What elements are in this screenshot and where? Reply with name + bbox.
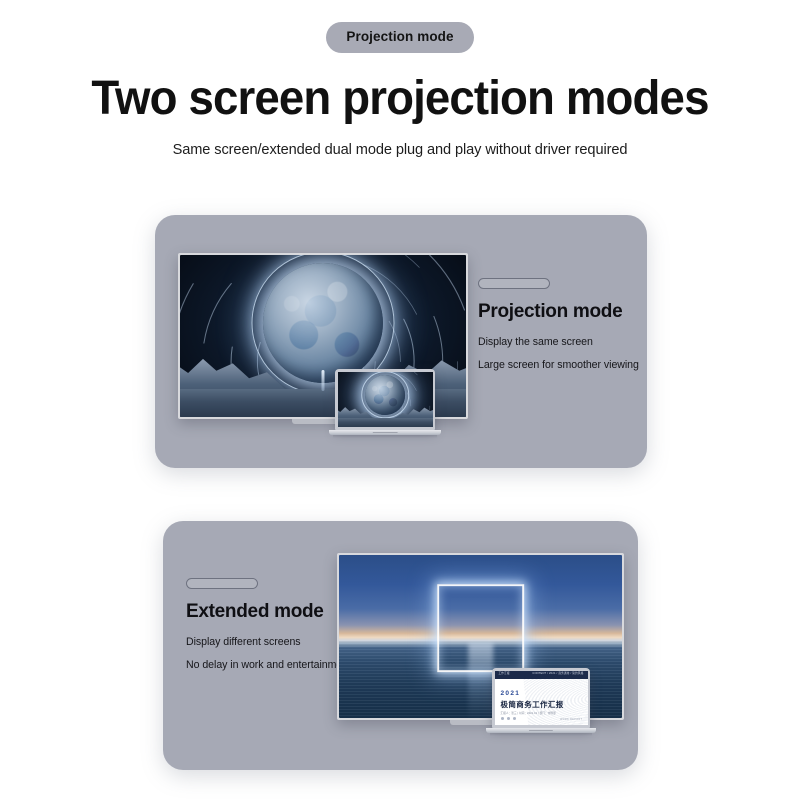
artwork-moon-star-trails-mirrored: [338, 372, 433, 428]
text-block-extended-mode: Extended mode Display different screens …: [186, 578, 351, 682]
laptop-lid: 工作汇报 CONTENT / 2021 / 商务通用 / 简约风格 2021 极…: [492, 668, 590, 728]
slide-footer: WORK REPORT: [560, 719, 582, 721]
mode-line-1: Display different screens: [186, 636, 351, 648]
laptop-screen-presentation: 工作汇报 CONTENT / 2021 / 商务通用 / 简约风格 2021 极…: [495, 671, 588, 726]
section-badge: Projection mode: [326, 22, 473, 53]
mode-line-2: No delay in work and entertainment: [186, 659, 351, 671]
presentation-slide: 工作汇报 CONTENT / 2021 / 商务通用 / 简约风格 2021 极…: [495, 671, 588, 726]
slide-topbar-left: 工作汇报: [499, 673, 510, 676]
slide-title: 极简商务工作汇报: [501, 701, 564, 709]
slide-body: 2021 极简商务工作汇报 汇报人：张三 | 时间：2021.01 | 部门：市…: [495, 679, 588, 726]
slide-dots-decoration: [501, 717, 516, 720]
slide-year: 2021: [501, 691, 521, 698]
laptop-lid: [335, 369, 435, 430]
slide-topbar-right: CONTENT / 2021 / 商务通用 / 简约风格: [532, 673, 583, 676]
pill-outline-decoration: [186, 578, 258, 589]
neon-square-icon: [437, 584, 525, 672]
moon-halo: [361, 372, 409, 419]
page-title: Two screen projection modes: [20, 74, 780, 124]
laptop-shadow: [490, 733, 592, 736]
page-header: Projection mode Two screen projection mo…: [0, 0, 800, 158]
laptop-projection-mode: [335, 369, 435, 438]
mode-line-2: Large screen for smoother viewing: [478, 359, 639, 371]
laptop-extended-mode: 工作汇报 CONTENT / 2021 / 商务通用 / 简约风格 2021 极…: [492, 668, 590, 736]
pill-outline-decoration: [478, 278, 550, 289]
laptop-screen-moon: [338, 372, 433, 428]
page-subtitle: Same screen/extended dual mode plug and …: [0, 142, 800, 158]
mode-line-1: Display the same screen: [478, 336, 639, 348]
laptop-shadow: [333, 435, 437, 438]
text-block-projection-mode: Projection mode Display the same screen …: [478, 278, 639, 382]
slide-subtitle: 汇报人：张三 | 时间：2021.01 | 部门：市场部: [501, 712, 556, 716]
snow-ground: [338, 418, 433, 427]
mode-title-projection: Projection mode: [478, 301, 639, 323]
standing-figure: [322, 370, 325, 391]
slide-topbar: 工作汇报 CONTENT / 2021 / 商务通用 / 简约风格: [495, 671, 588, 679]
laptop-base: [329, 430, 441, 435]
laptop-base: [486, 728, 596, 733]
mode-title-extended: Extended mode: [186, 601, 351, 623]
